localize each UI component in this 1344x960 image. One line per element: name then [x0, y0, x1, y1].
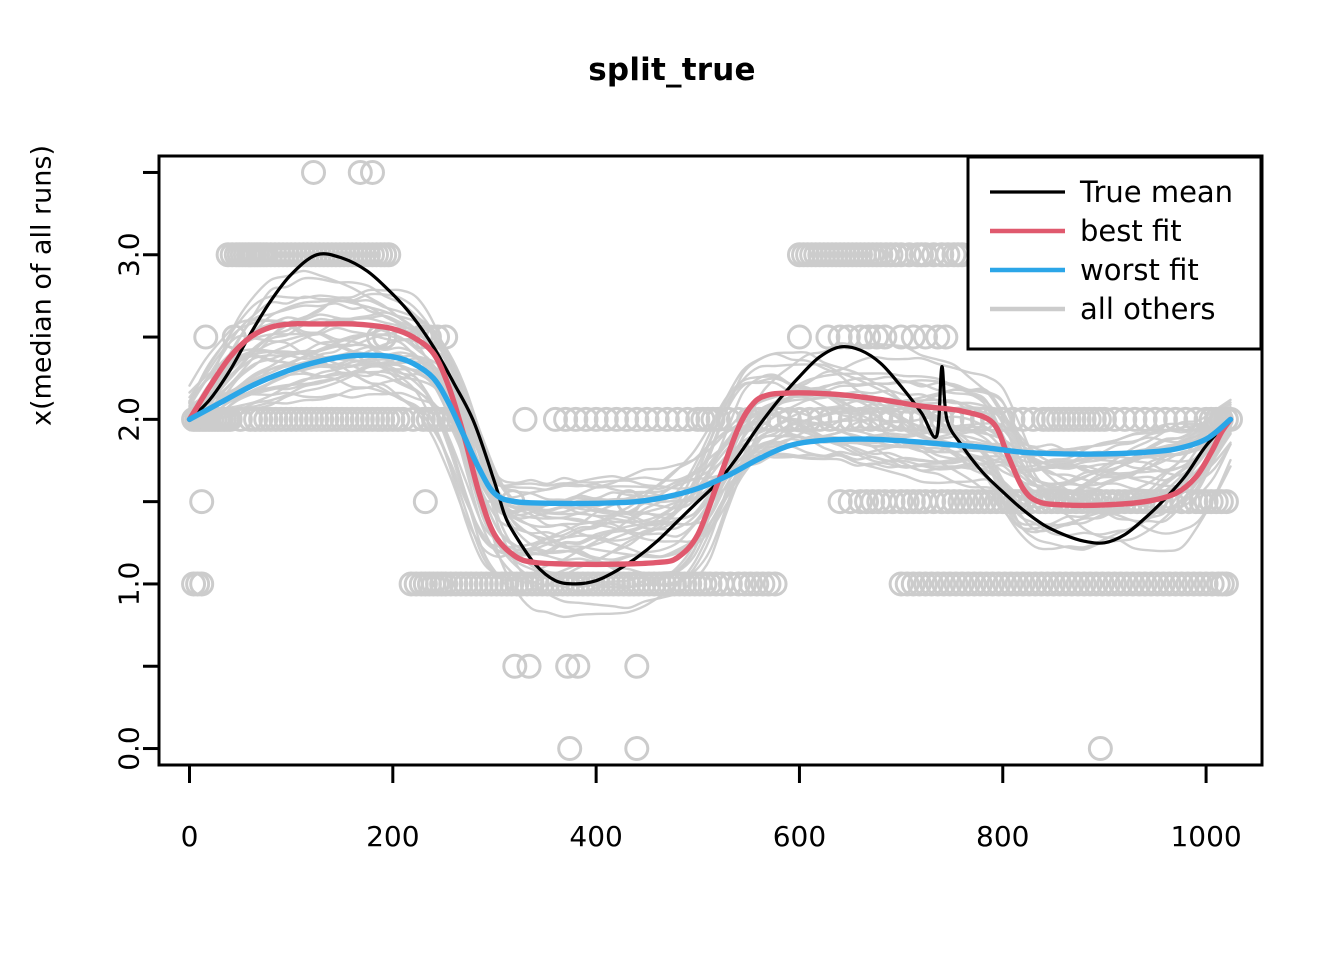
x-tick-label: 400 [569, 820, 622, 853]
y-tick-label: 3.0 [113, 232, 146, 277]
legend-label: best fit [1080, 214, 1182, 248]
x-tick-label: 0 [181, 820, 199, 853]
x-tick-label: 1000 [1170, 820, 1241, 853]
y-axis-tick-labels: 0.01.02.03.0 [113, 232, 146, 770]
x-tick-label: 800 [976, 820, 1029, 853]
y-tick-label: 0.0 [113, 726, 146, 771]
legend-label: True mean [1079, 175, 1233, 209]
x-axis-tick-labels: 02004006008001000 [181, 820, 1242, 853]
x-tick-label: 200 [366, 820, 419, 853]
chart-figure: split_true x(median of all runs) 0.01.02… [0, 0, 1344, 960]
y-tick-label: 1.0 [113, 562, 146, 607]
x-tick-label: 600 [773, 820, 826, 853]
legend-label: all others [1080, 292, 1215, 326]
y-tick-label: 2.0 [113, 397, 146, 442]
x-axis-ticks [189, 765, 1206, 783]
legend[interactable]: True meanbest fitworst fitall others [968, 157, 1261, 349]
legend-label: worst fit [1080, 253, 1199, 287]
plot-canvas: 0.01.02.03.0 02004006008001000 True mean… [0, 0, 1344, 960]
